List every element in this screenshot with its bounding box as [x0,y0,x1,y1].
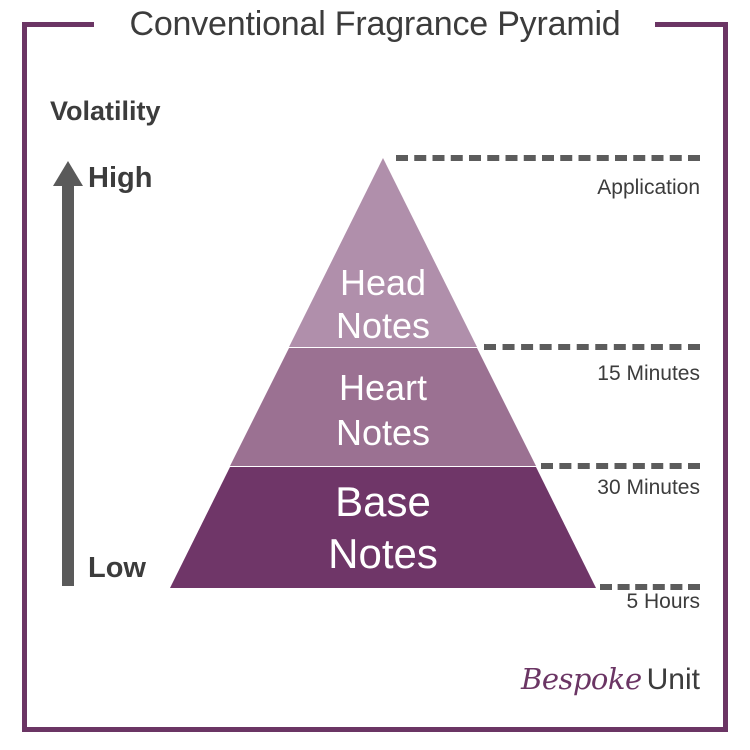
marker-line-application [396,155,700,161]
band-label-base-line2: Notes [328,530,438,577]
fragrance-pyramid-infographic: Conventional Fragrance Pyramid Volatilit… [0,0,750,750]
marker-label-five-hours: 5 Hours [420,590,700,614]
band-label-heart-line2: Notes [336,412,430,453]
logo-script-word: Bespoke [521,662,642,696]
marker-line-fifteen-minutes [484,344,700,350]
marker-label-fifteen-minutes: 15 Minutes [420,362,700,386]
marker-label-thirty-minutes: 30 Minutes [420,476,700,500]
logo-plain-word: Unit [647,663,700,696]
marker-label-application: Application [420,176,700,200]
band-label-head-line2: Notes [336,305,430,346]
bespoke-unit-logo[interactable]: BespokeUnit [430,662,700,697]
band-label-base-line1: Base [335,478,431,525]
band-label-head-line1: Head [340,262,426,303]
marker-line-thirty-minutes [541,463,700,469]
band-label-heart-line1: Heart [339,367,427,408]
